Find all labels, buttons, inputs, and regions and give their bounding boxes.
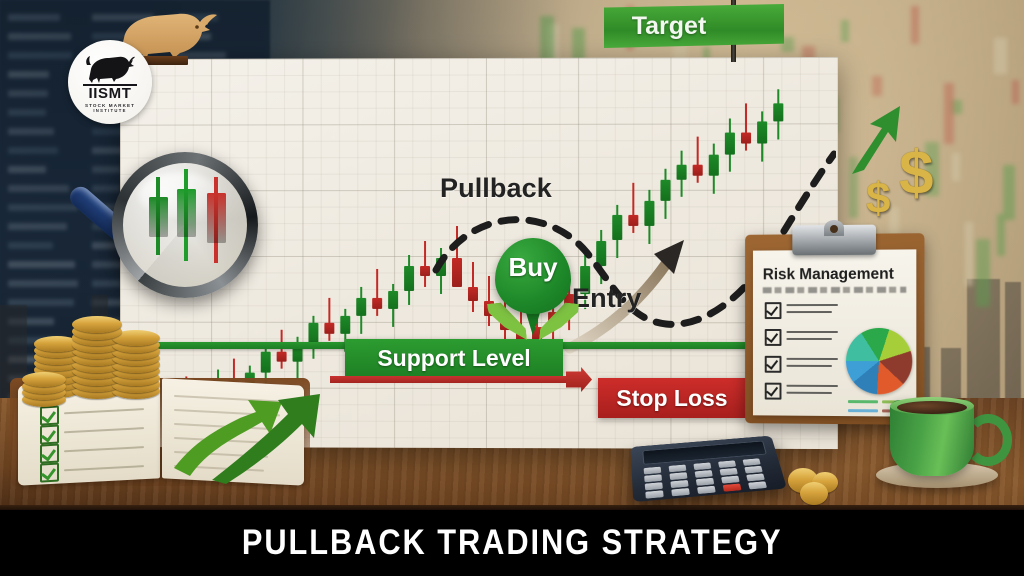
pie-legend-entry [848, 409, 878, 412]
candle-wick [697, 136, 699, 183]
magnified-candle-body [207, 193, 226, 243]
book-rule-line [64, 427, 144, 433]
calculator-key[interactable] [695, 470, 713, 478]
clipboard-task-line [786, 365, 832, 368]
candle-body [468, 287, 478, 301]
risk-pie-chart [846, 328, 912, 395]
magnified-candle-body [177, 189, 196, 237]
magnifier-glass [123, 163, 247, 287]
clipboard-clamp-knob [824, 220, 844, 236]
buy-label: Buy [495, 252, 571, 283]
calculator-key-clear[interactable] [723, 484, 742, 492]
book-checkbox [40, 406, 59, 426]
calculator-key[interactable] [720, 468, 738, 476]
calculator-key[interactable] [743, 458, 761, 466]
clipboard-task-line [786, 392, 832, 395]
poster-canvas: Support Level Stop Loss Pullback Entry B… [0, 0, 1024, 576]
candle-wick [376, 269, 378, 316]
candle-body [356, 298, 366, 316]
candle-body [420, 266, 430, 277]
brand-logo[interactable]: IISMT STOCK MARKET INSTITUTE [68, 40, 152, 124]
clipboard-checkbox [765, 383, 782, 400]
stop-loss-arrow-shaft [330, 376, 570, 383]
calculator-key[interactable] [644, 474, 662, 482]
book-rule-line [64, 408, 144, 414]
coin [22, 372, 66, 387]
stop-loss-badge: Stop Loss [598, 378, 746, 418]
growth-arrow-icon [160, 356, 330, 484]
book-checkbox [40, 444, 59, 464]
calculator-key[interactable] [669, 465, 687, 473]
candle-body [757, 122, 767, 144]
candle-body [404, 266, 414, 291]
candle-body [725, 133, 735, 155]
book-checkbox [40, 425, 59, 445]
candle-body [773, 104, 783, 122]
title-bar: PULLBACK TRADING STRATEGY [0, 510, 1024, 576]
clipboard-task-line [786, 358, 838, 361]
candle-body [436, 258, 446, 276]
clipboard-title: Risk Management [763, 266, 894, 285]
candle-wick [328, 298, 330, 341]
candle-body [324, 323, 334, 334]
candle-body [709, 154, 719, 176]
calculator-key[interactable] [670, 480, 688, 488]
candle-body [741, 133, 751, 144]
calculator-key[interactable] [669, 472, 687, 480]
logo-subtitle-line2: INSTITUTE [93, 108, 126, 113]
candle-body [612, 215, 622, 240]
dollar-sign-small-icon: $ [866, 174, 890, 224]
candle-body [628, 215, 638, 226]
clipboard-task-line [786, 311, 832, 313]
magnifier-icon [112, 152, 258, 298]
clipboard-paper: Risk Management [753, 249, 916, 416]
clipboard-subtitle-text [763, 287, 906, 294]
clipboard-task-line [786, 338, 832, 340]
clipboard-task-line [786, 331, 838, 333]
clipboard-task-line [786, 304, 838, 307]
pullback-label: Pullback [440, 173, 552, 204]
clipboard-checkbox [765, 329, 782, 346]
magnified-candle-body [149, 197, 168, 237]
candle-body [388, 291, 398, 309]
target-label: Target [604, 12, 734, 41]
desk-coin [800, 482, 828, 505]
book-rule-line [64, 446, 144, 452]
candle-body [596, 240, 606, 265]
candle-body [677, 165, 687, 179]
clipboard-checkbox [765, 356, 782, 373]
calculator-key[interactable] [718, 460, 736, 468]
mug-coffee-surface [897, 401, 967, 414]
calculator-key[interactable] [721, 476, 740, 484]
calculator-key[interactable] [645, 482, 663, 490]
candle-body [452, 258, 462, 287]
calculator-key[interactable] [697, 486, 716, 494]
pie-legend-entry [848, 400, 878, 403]
poster-title: PULLBACK TRADING STRATEGY [242, 523, 783, 563]
calculator-key[interactable] [645, 490, 663, 498]
bull-silhouette-icon [85, 53, 135, 83]
book-rule-line [64, 465, 144, 471]
candle-wick [745, 104, 747, 151]
calculator-key[interactable] [693, 462, 711, 470]
stop-loss-label: Stop Loss [616, 385, 727, 412]
calculator-key[interactable] [746, 473, 765, 481]
coffee-mug-icon [888, 400, 984, 486]
calculator-key[interactable] [644, 467, 662, 475]
candle-body [644, 201, 654, 226]
candle-body [340, 316, 350, 334]
candle-body [308, 323, 318, 344]
buy-marker: Buy [487, 238, 579, 346]
calculator-key[interactable] [696, 478, 714, 486]
candle-body [660, 179, 670, 201]
coin [72, 316, 122, 333]
stop-loss-arrow [330, 372, 600, 386]
calculator-key[interactable] [671, 488, 690, 496]
up-arrow-icon [848, 104, 906, 176]
calculator-key[interactable] [744, 466, 762, 474]
candle-body [693, 165, 703, 176]
calculator-key[interactable] [748, 481, 767, 489]
entry-label: Entry [572, 283, 642, 314]
candle-body [372, 298, 382, 309]
support-level-label: Support Level [377, 345, 530, 372]
candle-wick [424, 241, 426, 288]
clipboard-checkbox [765, 302, 782, 319]
clipboard-task-line [786, 385, 838, 388]
book-checkbox [40, 463, 59, 483]
logo-name: IISMT [89, 86, 132, 101]
risk-management-clipboard: Risk Management [745, 233, 924, 425]
